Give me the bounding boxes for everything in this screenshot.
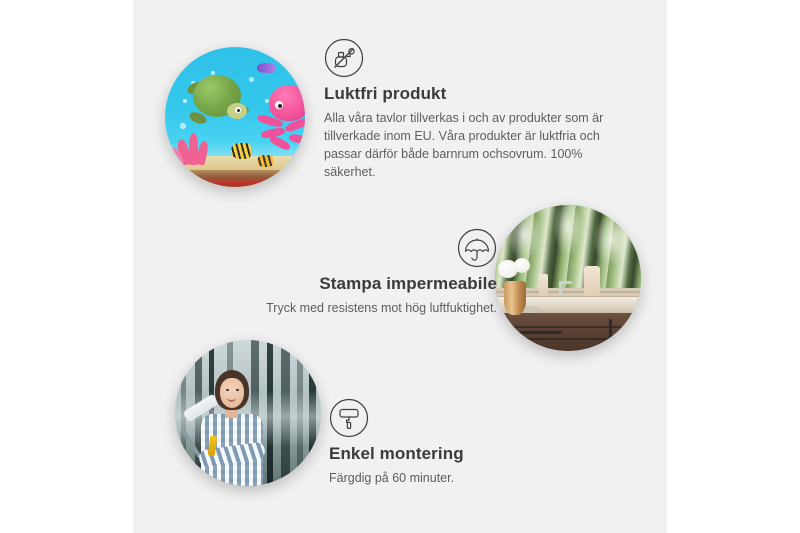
- bathroom-scene: [495, 205, 641, 351]
- person-face: [220, 378, 244, 408]
- feature-easy-mounting-title: Enkel montering: [329, 444, 625, 464]
- paint-roller-icon: [329, 398, 369, 438]
- feature-waterproof-text: Stampa impermeabile Tryck med resistens …: [193, 274, 497, 317]
- feature-easy-mounting-text: Enkel montering Färgdig på 60 minuter.: [329, 444, 625, 487]
- cabinet-drawer-seam: [498, 338, 638, 340]
- sink-faucet-spout: [559, 281, 572, 284]
- soap-dish: [524, 306, 540, 313]
- umbrella-icon: [457, 228, 497, 268]
- feature-easy-mounting-description: Färgdig på 60 minuter.: [329, 469, 625, 487]
- cabinet-drawer-seam: [498, 326, 638, 328]
- white-flower: [514, 258, 530, 273]
- fish-icon: [257, 155, 273, 167]
- medallion-bathroom-botanical-wallpaper: [495, 205, 641, 351]
- flower-vase: [504, 281, 526, 315]
- cabinet-handle: [609, 319, 612, 338]
- medallion-painter-forest-mural: [175, 340, 321, 486]
- feature-panel: Luktfri produkt Alla våra tavlor tillver…: [133, 0, 667, 533]
- cabinet-handle: [518, 331, 562, 334]
- bubble-icon: [183, 99, 187, 103]
- medallion-underwater-kids-mural: [165, 47, 305, 187]
- towel-roll: [584, 266, 600, 296]
- sea-bottom-strip: [165, 170, 305, 187]
- feature-waterproof-title: Stampa impermeabile: [193, 274, 497, 294]
- bubble-icon: [180, 123, 186, 129]
- feature-odourless-text: Luktfri produkt Alla våra tavlor tillver…: [324, 84, 620, 182]
- screenshot-root: Luktfri produkt Alla våra tavlor tillver…: [0, 0, 800, 533]
- fish-icon: [257, 63, 275, 73]
- turtle-pupil: [237, 109, 240, 112]
- fish-icon: [231, 143, 251, 159]
- person-eye: [226, 389, 229, 391]
- forest-painter-scene: [175, 340, 321, 486]
- octopus-pupil: [278, 104, 282, 108]
- feature-waterproof-description: Tryck med resistens mot hög luftfuktighe…: [193, 299, 497, 317]
- underwater-scene: [165, 47, 305, 187]
- bubble-icon: [249, 77, 254, 82]
- feature-odourless-description: Alla våra tavlor tillverkas i och av pro…: [324, 109, 620, 182]
- no-perfume-icon: [324, 38, 364, 78]
- person-eye: [236, 389, 239, 391]
- feature-odourless-title: Luktfri produkt: [324, 84, 620, 104]
- soap-dispenser: [539, 274, 548, 296]
- vanity-cabinet: [495, 313, 641, 351]
